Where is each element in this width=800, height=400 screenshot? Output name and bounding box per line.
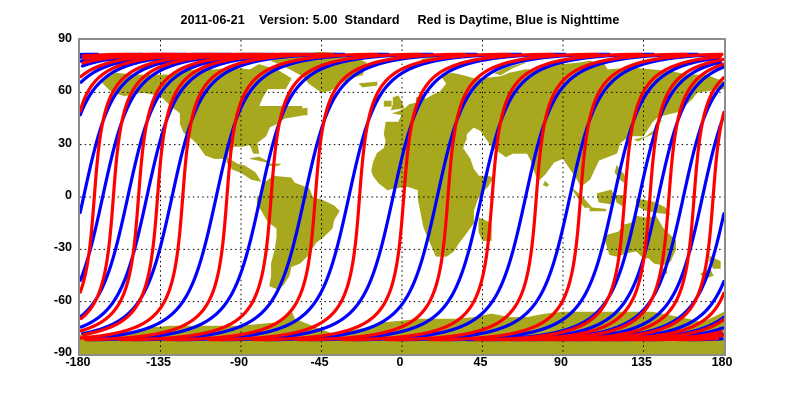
x-tick-label: 0 [360, 356, 440, 368]
y-tick-label: -30 [12, 241, 72, 253]
x-tick-label: -135 [119, 356, 199, 368]
y-tick-label: 0 [12, 189, 72, 201]
y-tick-label: 60 [12, 84, 72, 96]
x-tick-label: -90 [199, 356, 279, 368]
ground-track-map-figure: 2011-06-21 Version: 5.00 Standard Red is… [0, 0, 800, 400]
figure-title: 2011-06-21 Version: 5.00 Standard Red is… [0, 13, 800, 27]
ground-tracks-layer [80, 40, 724, 354]
y-tick-label: 30 [12, 137, 72, 149]
x-tick-label: 180 [682, 356, 762, 368]
x-tick-label: -180 [38, 356, 118, 368]
y-tick-label: -60 [12, 294, 72, 306]
y-tick-label: 90 [12, 32, 72, 44]
plot-area [78, 38, 726, 356]
x-tick-label: 45 [441, 356, 521, 368]
x-tick-label: -45 [280, 356, 360, 368]
plot-inner [80, 40, 724, 354]
x-tick-label: 135 [602, 356, 682, 368]
x-tick-label: 90 [521, 356, 601, 368]
